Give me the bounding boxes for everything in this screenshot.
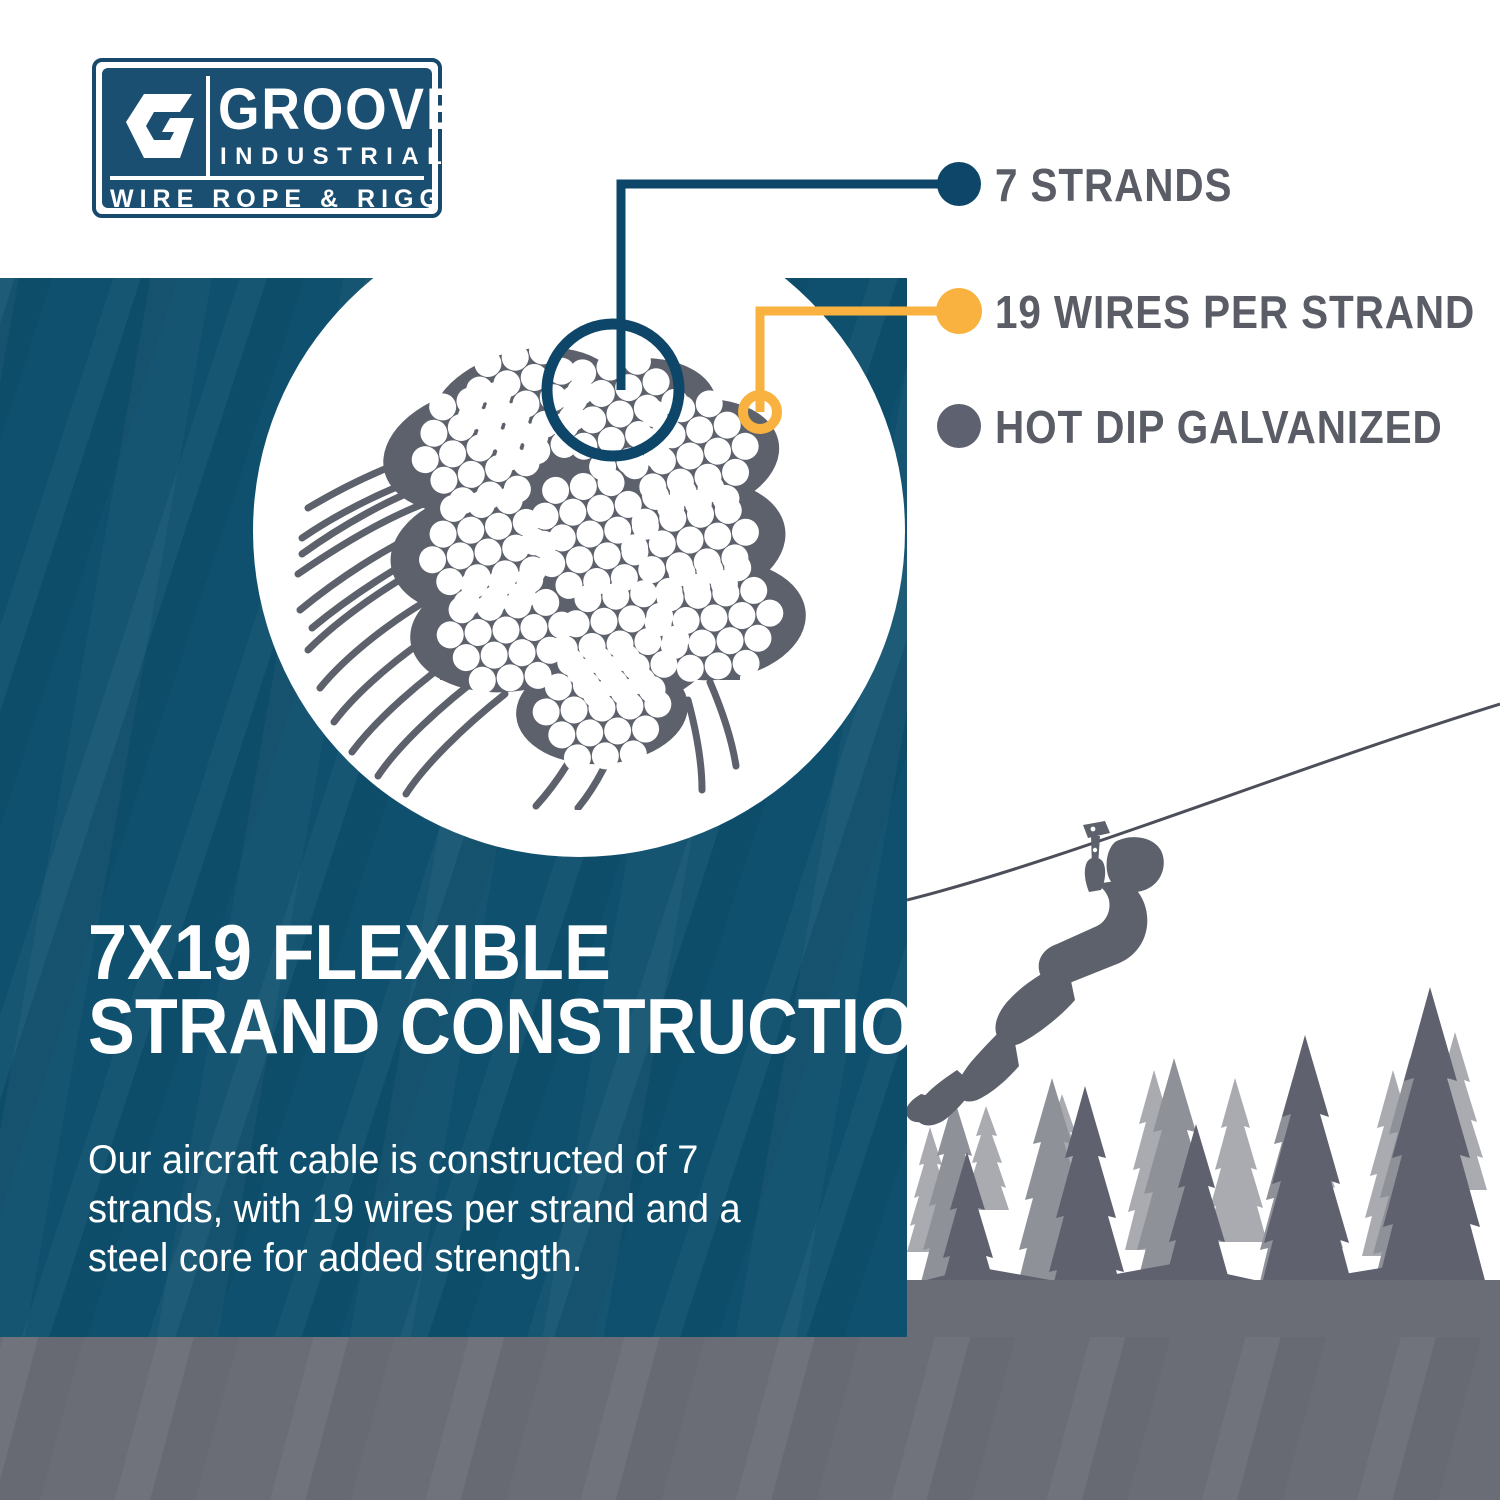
wire-rope-illustration [290, 290, 850, 810]
callout-label-wires: 19 WIRES PER STRAND [995, 285, 1475, 339]
body-line-3: steel core for added strength. [88, 1234, 753, 1283]
zipline-scene [907, 690, 1500, 1337]
callout-label-galvanized: HOT DIP GALVANIZED [995, 400, 1443, 454]
logo-fill: GROOVE INDUSTRIAL WIRE ROPE & RIGGING [102, 68, 432, 208]
body-line-2: strands, with 19 wires per strand and a [88, 1185, 753, 1234]
logo-divider-vertical [206, 76, 210, 176]
logo-outer-border: GROOVE INDUSTRIAL WIRE ROPE & RIGGING [92, 58, 442, 218]
headline-line-1: 7X19 FLEXIBLE [88, 915, 808, 989]
infographic-canvas: 7 STRANDS 19 WIRES PER STRAND HOT DIP GA… [0, 0, 1500, 1500]
logo-tagline: WIRE ROPE & RIGGING [110, 182, 424, 216]
body-line-1: Our aircraft cable is constructed of 7 [88, 1136, 753, 1185]
logo-subtitle: INDUSTRIAL [220, 142, 422, 172]
callout-dot-wires [936, 288, 982, 334]
groove-g-monogram-icon [118, 82, 198, 170]
brand-logo[interactable]: GROOVE INDUSTRIAL WIRE ROPE & RIGGING [92, 58, 442, 218]
headline: 7X19 FLEXIBLE STRAND CONSTRUCTION [88, 915, 808, 1063]
body-copy: Our aircraft cable is constructed of 7 s… [88, 1136, 753, 1283]
bottom-band-stripe-texture [0, 1337, 1500, 1500]
callout-dot-strands [937, 162, 981, 206]
callout-label-strands: 7 STRANDS [995, 158, 1232, 212]
logo-divider-horizontal [110, 176, 424, 180]
bottom-gray-band [0, 1337, 1500, 1500]
callout-dot-galvanized [937, 404, 981, 448]
logo-wordmark: GROOVE [218, 74, 406, 146]
headline-line-2: STRAND CONSTRUCTION [88, 989, 808, 1063]
scene-bottom-filler [907, 1280, 1500, 1337]
